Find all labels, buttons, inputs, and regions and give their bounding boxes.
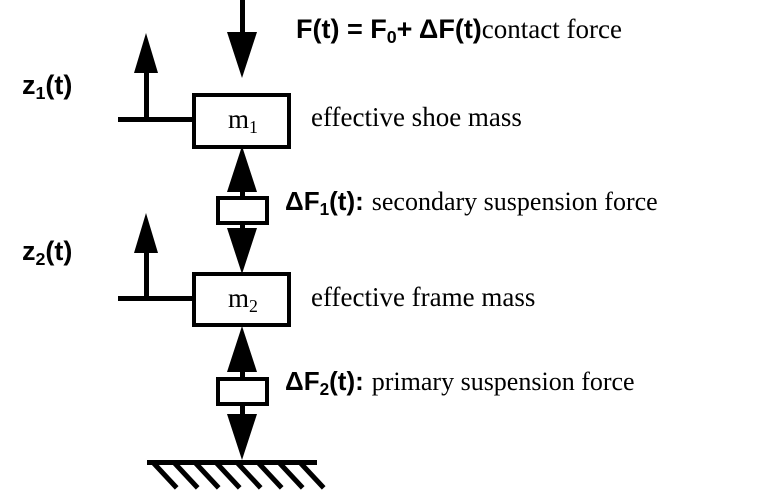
suspension2-description: primary suspension force (364, 367, 635, 397)
contact-force-label: F(t) = F0 + ΔF(t)contact force (296, 14, 622, 45)
top-force-line (240, 0, 245, 34)
suspension1-down-arrowhead (227, 228, 257, 274)
coordinate-z1-arg: (t) (45, 70, 72, 100)
contact-force-equation-head: F(t) = F (296, 14, 387, 45)
mass-m1-description: effective shoe mass (311, 104, 522, 131)
coordinate-z2-label: z2(t) (22, 238, 72, 265)
coordinate-z2-sub: 2 (36, 249, 46, 269)
mass-m2-description: effective frame mass (311, 284, 535, 311)
suspension1-arg: (t): (329, 186, 364, 217)
z2-reference-line (118, 296, 196, 301)
suspension2-up-arrowhead (227, 326, 257, 372)
suspension2-arg: (t): (329, 366, 364, 397)
contact-force-equation-tail: + ΔF(t) (397, 14, 482, 45)
coordinate-z1-symbol: z (22, 70, 36, 100)
suspension2-box (216, 377, 269, 406)
mass-m2-sub: 2 (249, 296, 258, 316)
contact-force-description: contact force (482, 14, 622, 45)
z1-arrowhead (134, 33, 158, 73)
suspension1-box (216, 196, 269, 225)
suspension2-symbol: ΔF (285, 366, 320, 397)
suspension1-sub: 1 (320, 199, 330, 220)
z1-reference-line (118, 117, 196, 122)
suspension1-description: secondary suspension force (364, 187, 658, 217)
suspension1-up-arrowhead (227, 146, 257, 192)
contact-force-equation-sub: 0 (387, 27, 397, 48)
coordinate-z1-sub: 1 (36, 83, 46, 103)
mass-m1-symbol: m (228, 104, 249, 134)
z2-arrow-shaft (144, 252, 149, 299)
suspension2-down-arrowhead (227, 414, 257, 460)
suspension1-symbol: ΔF (285, 186, 320, 217)
suspension2-label: ΔF2(t):primary suspension force (285, 366, 635, 397)
coordinate-z2-arg: (t) (45, 236, 72, 266)
mass-m2-label: m2 (228, 285, 258, 312)
mass-m2-symbol: m (228, 283, 249, 313)
suspension2-sub: 2 (320, 379, 330, 400)
coordinate-z2-symbol: z (22, 236, 36, 266)
z2-arrowhead (134, 213, 158, 253)
suspension1-label: ΔF1(t):secondary suspension force (285, 186, 658, 217)
top-force-arrowhead (227, 32, 257, 78)
z1-arrow-shaft (144, 72, 149, 120)
coordinate-z1-label: z1(t) (22, 72, 72, 99)
mass-m1-label: m1 (228, 106, 258, 133)
suspension-model-diagram: F(t) = F0 + ΔF(t)contact force z1(t) m1 … (0, 0, 770, 496)
mass-m1-sub: 1 (249, 117, 258, 137)
